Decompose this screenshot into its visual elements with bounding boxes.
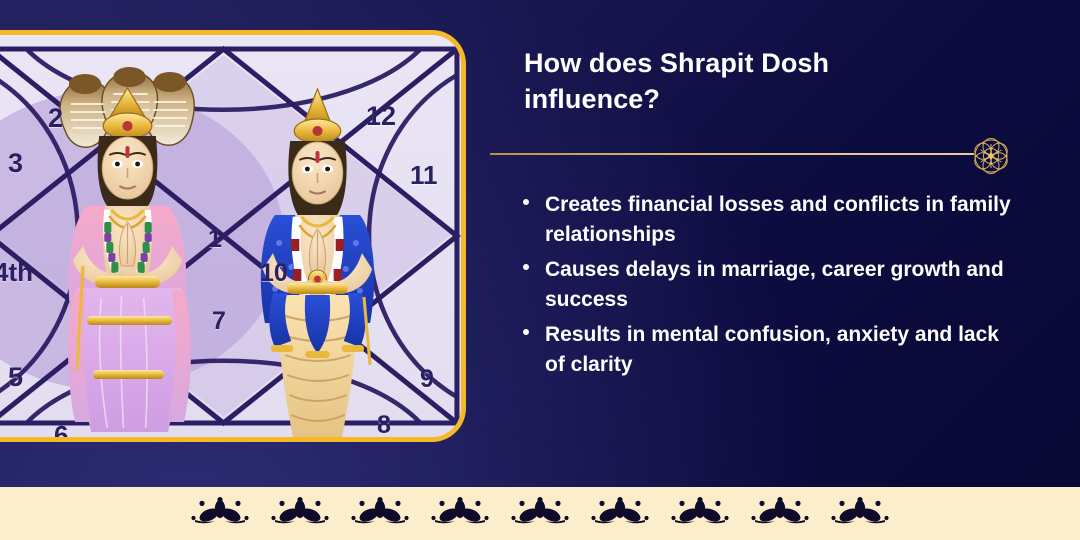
list-item: Creates financial losses and conflicts i… [515,190,1015,251]
house-number-3: 3 [8,148,23,179]
bullet-dot-icon [523,329,529,335]
house-number-9: 9 [420,365,434,394]
house-number-1: 1 [208,225,222,254]
house-number-8: 8 [377,411,391,440]
house-number-7: 7 [212,307,226,336]
lotus-petal-motif-svg [509,497,571,531]
lotus-petal-motif-svg [589,497,651,531]
lotus-petal-motif [349,497,411,531]
footer-band [0,487,1080,540]
house-number-2: 2 [48,103,63,134]
list-item: Causes delays in marriage, career growth… [515,255,1015,316]
bullet-dot-icon [523,264,529,270]
kundli-chart-graphic [0,35,461,437]
lotus-petal-motif [509,497,571,531]
lotus-petal-motif-svg [669,497,731,531]
lotus-petal-motif [589,497,651,531]
lotus-petal-motif [749,497,811,531]
mandala-rosette-icon [968,133,1014,179]
lotus-petal-motif-svg [749,497,811,531]
list-item-text: Causes delays in marriage, career growth… [545,258,1004,311]
slide-root: 1 2 3 4th 5 6 7 8 9 10 11 12 How does Sh… [0,0,1080,540]
house-number-6: 6 [54,420,68,442]
lotus-petal-motif-svg [829,497,891,531]
page-title-line-2: influence? [524,82,944,118]
lotus-petal-motif-svg [189,497,251,531]
list-item-text: Results in mental confusion, anxiety and… [545,323,999,376]
lotus-petal-motif [269,497,331,531]
house-number-5: 5 [8,362,23,393]
lotus-petal-motif-svg [429,497,491,531]
mandala-rosette-svg [968,133,1014,179]
divider-line [490,153,974,155]
lotus-petal-motif [189,497,251,531]
bullet-list: Creates financial losses and conflicts i… [515,190,1015,385]
bullet-dot-icon [523,199,529,205]
list-item: Results in mental confusion, anxiety and… [515,320,1015,381]
divider [490,133,1050,177]
lotus-petal-motif [429,497,491,531]
house-number-11: 11 [410,160,438,191]
kundli-diagram-svg [0,35,461,437]
lotus-petal-motif-svg [349,497,411,531]
kundli-chart-card: 1 2 3 4th 5 6 7 8 9 10 11 12 [0,30,466,442]
lotus-petal-motif [829,497,891,531]
footer-motif-row [0,487,1080,540]
lotus-petal-motif-svg [269,497,331,531]
page-title: How does Shrapit Dosh influence? [524,46,944,117]
house-number-12: 12 [366,101,396,132]
house-number-4th: 4th [0,257,33,288]
list-item-text: Creates financial losses and conflicts i… [545,193,1011,246]
page-title-line-1: How does Shrapit Dosh [524,46,944,82]
rahu-figure [60,67,194,432]
house-number-10: 10 [260,259,288,288]
lotus-petal-motif [669,497,731,531]
